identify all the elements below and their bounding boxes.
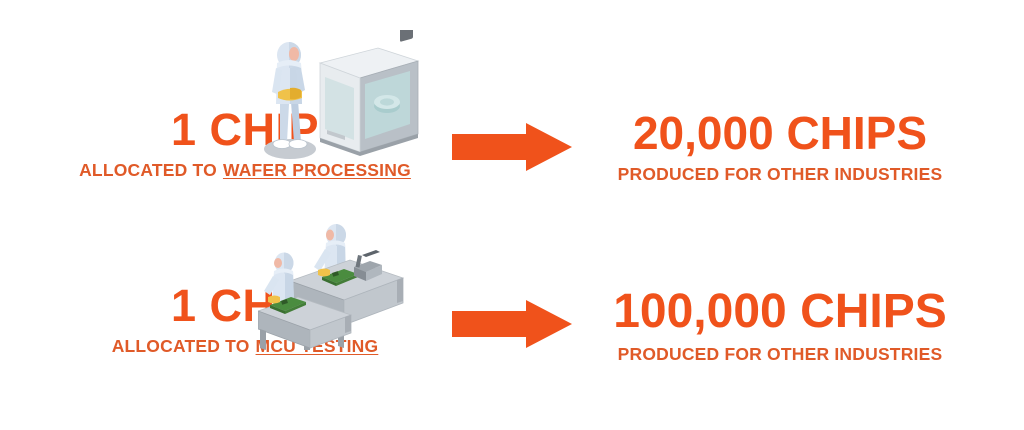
row-wafer-processing: 1 CHIP ALLOCATED TOWAFER PROCESSING: [0, 15, 1024, 215]
wafer-flow-arrow: [452, 123, 572, 171]
mcu-left-sub-prefix: ALLOCATED TO: [112, 336, 250, 356]
mcu-right-text-block: 100,000 CHIPS PRODUCED FOR OTHER INDUSTR…: [590, 288, 970, 365]
wafer-right-headline: 20,000 CHIPS: [590, 110, 970, 157]
wafer-right-subline: PRODUCED FOR OTHER INDUSTRIES: [590, 164, 970, 185]
mcu-testing-svg: [258, 205, 433, 350]
handling-gloves-back: [318, 269, 330, 277]
infographic-canvas: 1 CHIP ALLOCATED TOWAFER PROCESSING: [0, 0, 1024, 430]
handling-gloves-front: [268, 296, 280, 304]
wafer-right-text-block: 20,000 CHIPS PRODUCED FOR OTHER INDUSTRI…: [590, 110, 970, 185]
machine-front-window: [325, 77, 354, 140]
mcu-right-headline: 100,000 CHIPS: [590, 288, 970, 337]
machine-control-panel: [400, 30, 413, 42]
mcu-flow-arrow: [452, 300, 572, 348]
right-arrow-icon: [452, 123, 572, 171]
right-arrow-icon: [452, 300, 572, 348]
wafer-processing-machine: [320, 30, 418, 156]
wafer-processing-illustration: [250, 30, 430, 180]
mcu-right-subline: PRODUCED FOR OTHER INDUSTRIES: [590, 344, 970, 365]
cleanroom-technician: [272, 42, 307, 149]
wafer-left-sub-prefix: ALLOCATED TO: [79, 160, 217, 180]
wafer-processing-svg: [250, 30, 430, 175]
row-mcu-testing: 1 CHIP ALLOCATED TOMCU TESTING: [0, 205, 1024, 405]
mcu-testing-illustration: [258, 205, 433, 355]
